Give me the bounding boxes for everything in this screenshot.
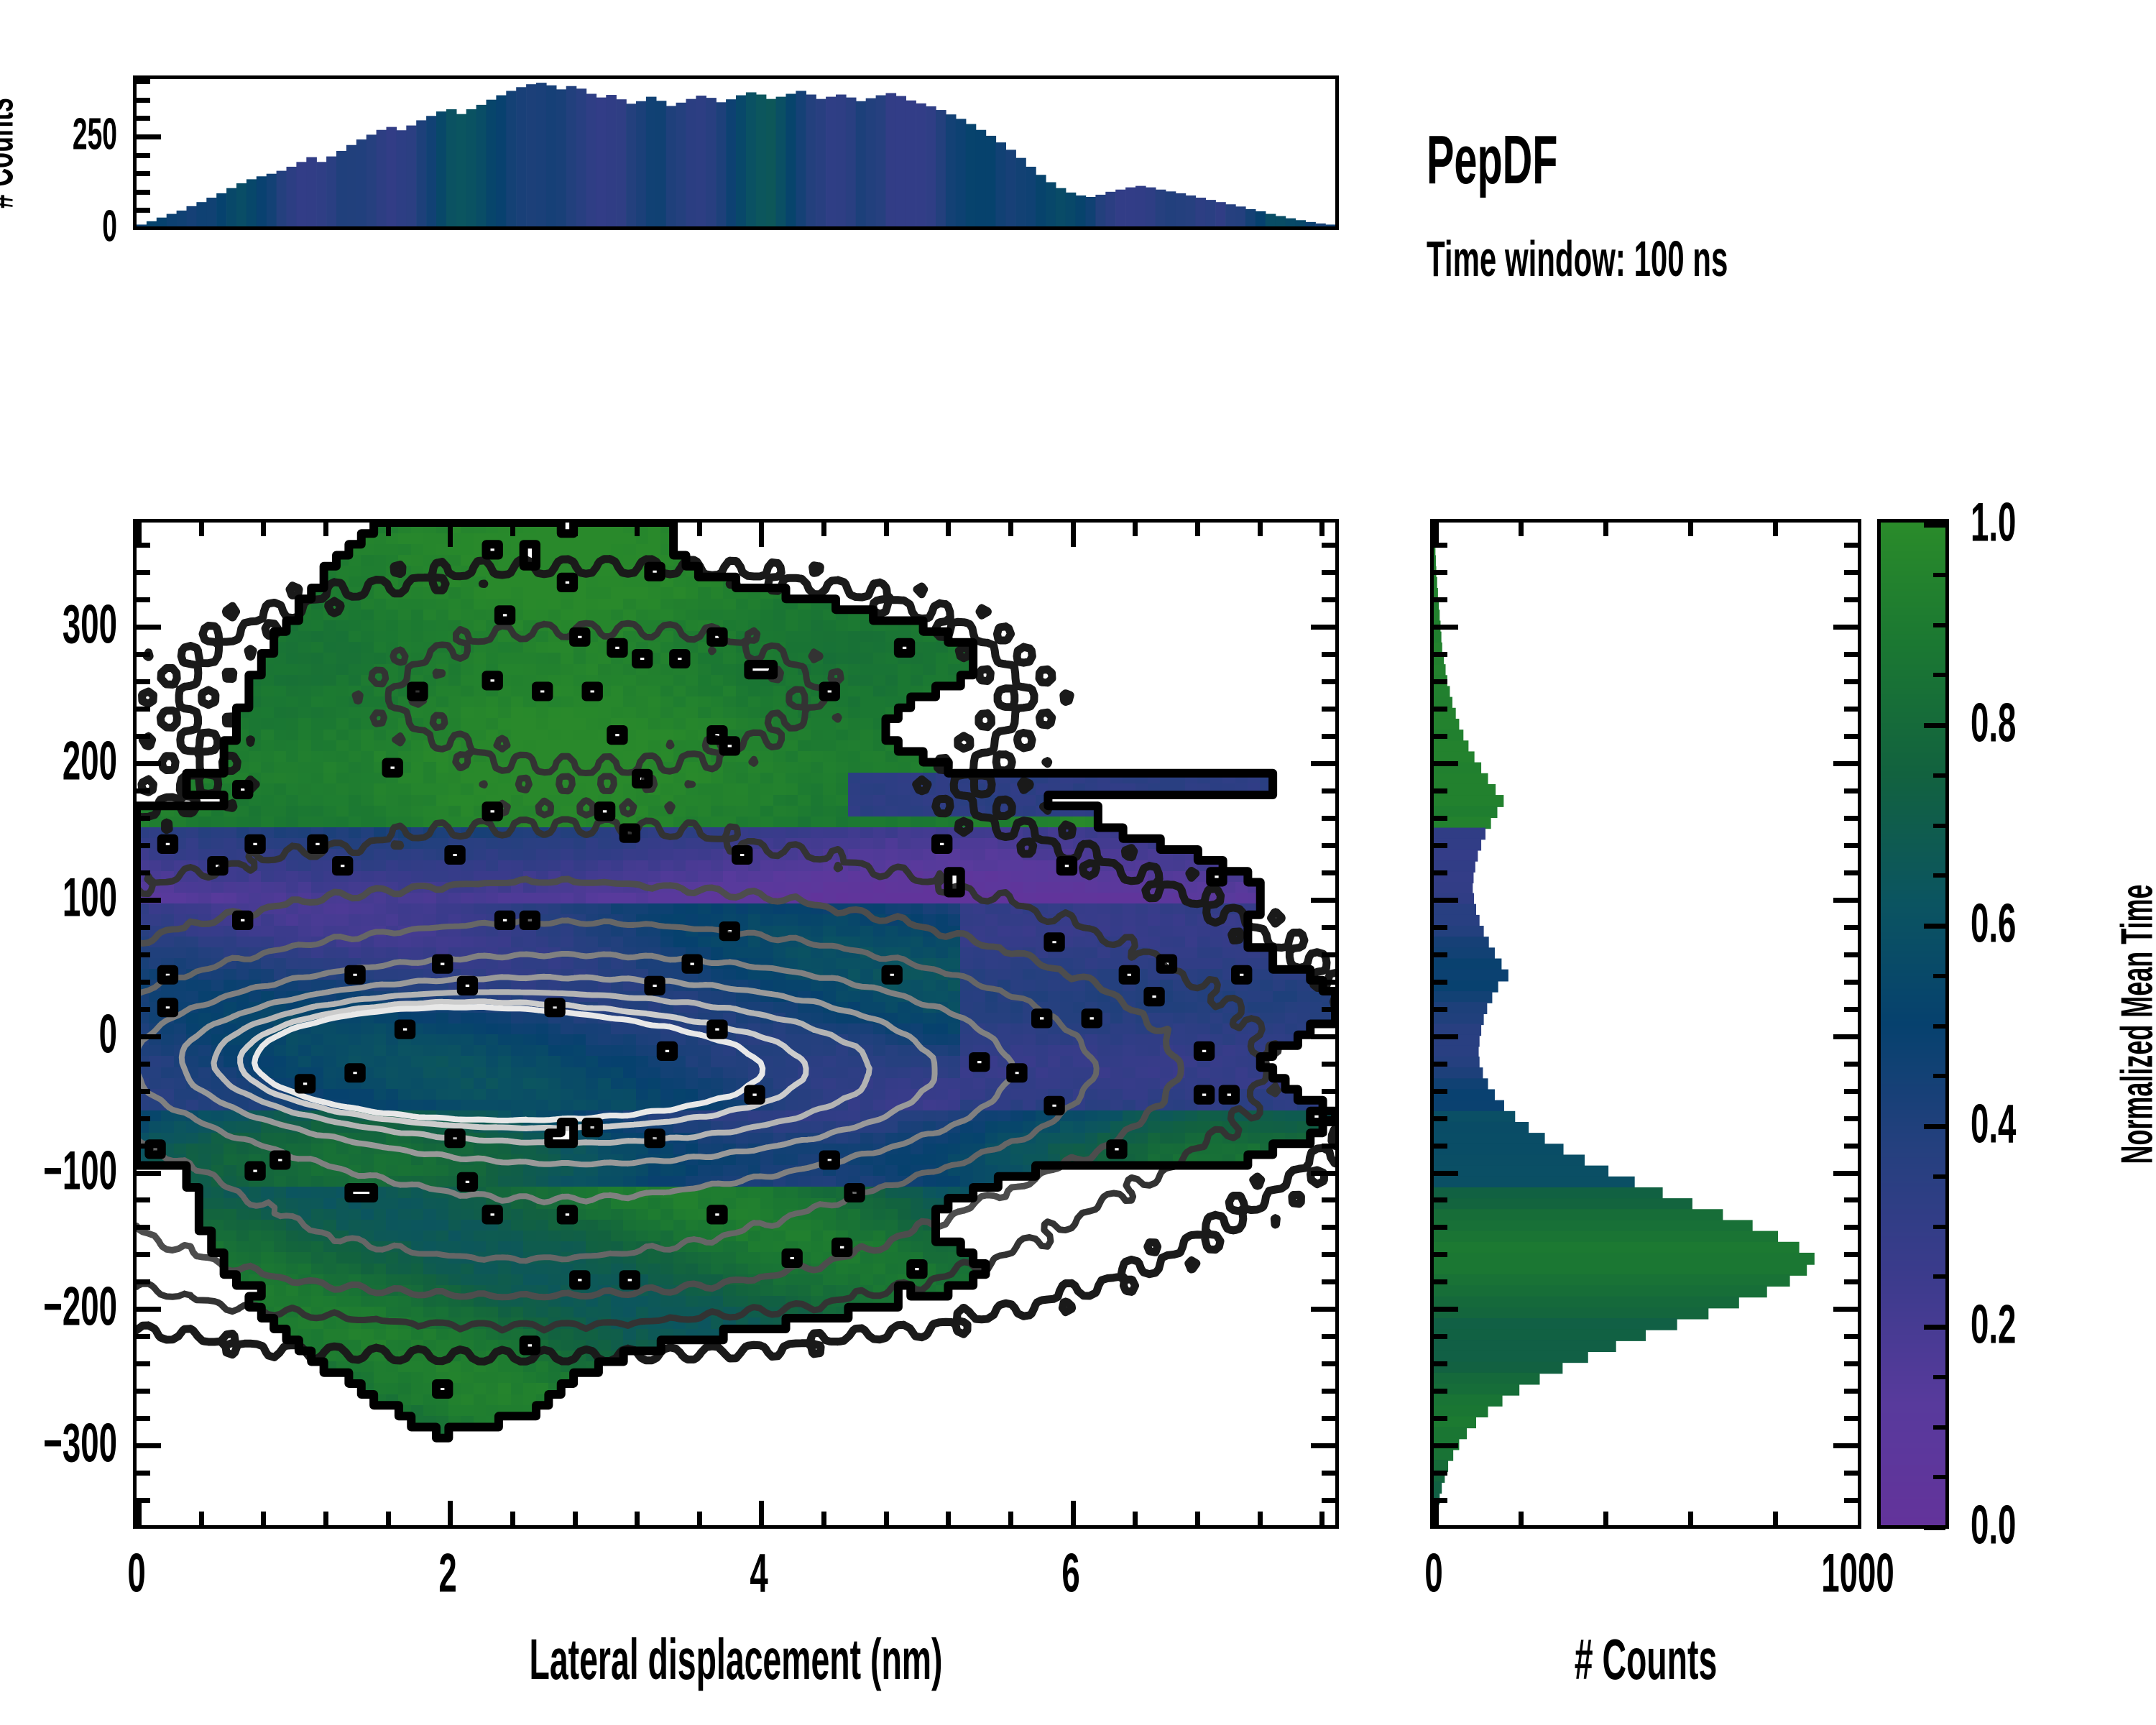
- axis-minor-tick: [1844, 1279, 1858, 1284]
- axis-minor-tick: [1195, 523, 1200, 536]
- axis-minor-tick: [1434, 652, 1447, 657]
- axis-minor-tick: [1844, 1416, 1858, 1421]
- axis-minor-tick: [1773, 1512, 1778, 1525]
- axis-minor-tick: [137, 1498, 150, 1503]
- axis-minor-tick: [137, 816, 150, 821]
- axis-minor-tick: [137, 79, 150, 84]
- axis-minor-tick: [1322, 1334, 1335, 1339]
- axis-minor-tick: [137, 171, 150, 176]
- axis-minor-tick: [1844, 597, 1858, 602]
- top-ytick-label: 250: [43, 109, 117, 160]
- axis-minor-tick: [137, 980, 150, 985]
- axis-minor-tick: [1434, 707, 1447, 712]
- colorbar-minor-tick: [1933, 1475, 1945, 1479]
- axis-minor-tick: [1603, 1512, 1608, 1525]
- axis-minor-tick: [1322, 788, 1335, 793]
- axis-tick: [1434, 1171, 1458, 1176]
- axis-minor-tick: [137, 116, 150, 121]
- axis-minor-tick: [1434, 1334, 1447, 1339]
- colorbar-minor-tick: [1933, 974, 1945, 978]
- axis-minor-tick: [1322, 1144, 1335, 1149]
- title-subtitle: Time window: 100 ns: [1427, 234, 1929, 284]
- right-marginal-histogram-panel: [1430, 519, 1861, 1529]
- axis-minor-tick: [1322, 952, 1335, 957]
- axis-minor-tick: [1434, 570, 1447, 575]
- axis-minor-tick: [1322, 1007, 1335, 1012]
- axis-minor-tick: [1434, 1498, 1447, 1503]
- axis-minor-tick: [884, 523, 889, 536]
- axis-minor-tick: [1434, 543, 1447, 548]
- axis-minor-tick: [1434, 1416, 1447, 1421]
- axis-minor-tick: [1434, 1144, 1447, 1149]
- top-marginal-histogram-panel: [133, 75, 1339, 230]
- axis-minor-tick: [697, 523, 702, 536]
- main-ytick-label: −200: [0, 1276, 117, 1338]
- axis-minor-tick: [1844, 1062, 1858, 1067]
- axis-minor-tick: [1322, 1116, 1335, 1121]
- axis-minor-tick: [1434, 597, 1447, 602]
- main-ytick-label: 300: [26, 594, 117, 656]
- axis-minor-tick: [137, 843, 150, 848]
- main-ytick-label: 200: [26, 730, 117, 793]
- axis-minor-tick: [1322, 679, 1335, 684]
- axis-minor-tick: [1434, 1116, 1447, 1121]
- axis-minor-tick: [137, 1334, 150, 1339]
- axis-tick: [1311, 1443, 1335, 1448]
- axis-minor-tick: [1322, 1389, 1335, 1394]
- axis-minor-tick: [1844, 1498, 1858, 1503]
- axis-tick: [1311, 625, 1335, 630]
- axis-minor-tick: [1844, 1525, 1858, 1529]
- main-ytick-label: 100: [26, 866, 117, 929]
- axis-minor-tick: [386, 1512, 391, 1525]
- axis-tick: [137, 226, 161, 230]
- axis-tick: [137, 1034, 161, 1039]
- axis-tick: [1833, 898, 1858, 903]
- axis-minor-tick: [137, 679, 150, 684]
- axis-minor-tick: [1322, 1225, 1335, 1230]
- axis-minor-tick: [137, 1116, 150, 1121]
- axis-minor-tick: [1434, 1279, 1447, 1284]
- axis-minor-tick: [1844, 570, 1858, 575]
- axis-tick: [1434, 1443, 1458, 1448]
- axis-minor-tick: [1844, 870, 1858, 875]
- axis-tick: [137, 1501, 142, 1525]
- axis-minor-tick: [1434, 1197, 1447, 1202]
- axis-tick: [1311, 1307, 1335, 1312]
- colorbar-tick: [1924, 1325, 1945, 1330]
- axis-minor-tick: [323, 523, 328, 536]
- axis-minor-tick: [1322, 1498, 1335, 1503]
- right-histogram-xlabel: # Counts: [1523, 1627, 1769, 1693]
- axis-minor-tick: [1322, 816, 1335, 821]
- axis-minor-tick: [261, 523, 266, 536]
- axis-minor-tick: [1322, 1525, 1335, 1529]
- axis-minor-tick: [137, 1525, 150, 1529]
- axis-tick: [137, 134, 161, 139]
- axis-minor-tick: [1322, 1089, 1335, 1094]
- axis-minor-tick: [1319, 1512, 1325, 1525]
- axis-minor-tick: [137, 734, 150, 739]
- axis-minor-tick: [137, 543, 150, 548]
- axis-tick: [137, 1171, 161, 1176]
- axis-tick: [1311, 898, 1335, 903]
- axis-minor-tick: [137, 190, 150, 195]
- axis-minor-tick: [1844, 1089, 1858, 1094]
- axis-minor-tick: [1322, 1471, 1335, 1476]
- axis-tick: [1434, 1034, 1458, 1039]
- page-title: PepDF: [1427, 126, 1929, 195]
- colorbar-minor-tick: [1933, 873, 1945, 878]
- axis-minor-tick: [1434, 1361, 1447, 1366]
- colorbar-minor-tick: [1933, 1425, 1945, 1430]
- axis-minor-tick: [137, 98, 150, 103]
- axis-tick: [137, 1443, 161, 1448]
- axis-minor-tick: [137, 1416, 150, 1421]
- axis-tick: [1311, 1034, 1335, 1039]
- axis-tick: [1833, 1307, 1858, 1312]
- axis-minor-tick: [1773, 523, 1778, 536]
- colorbar-tick-label: 0.4: [1971, 1093, 2047, 1156]
- axis-minor-tick: [1844, 816, 1858, 821]
- colorbar-tick-label: 0.6: [1971, 893, 2047, 955]
- colorbar: [1877, 519, 1949, 1529]
- axis-minor-tick: [137, 153, 150, 158]
- colorbar-tick-label: 1.0: [1971, 492, 2047, 554]
- axis-minor-tick: [1844, 1471, 1858, 1476]
- axis-minor-tick: [1322, 1062, 1335, 1067]
- top-histogram-ylabel: # Counts: [0, 57, 24, 248]
- main-ytick-label: 0: [87, 1003, 117, 1065]
- axis-minor-tick: [137, 570, 150, 575]
- axis-minor-tick: [1844, 843, 1858, 848]
- axis-minor-tick: [137, 597, 150, 602]
- axis-tick: [1833, 1034, 1858, 1039]
- main-xtick-label: 0: [121, 1542, 152, 1605]
- axis-minor-tick: [1195, 1512, 1200, 1525]
- axis-minor-tick: [1603, 523, 1608, 536]
- axis-minor-tick: [1844, 1252, 1858, 1257]
- axis-tick: [1434, 1307, 1458, 1312]
- axis-minor-tick: [1434, 1062, 1447, 1067]
- axis-tick: [137, 898, 161, 903]
- right-xtick-label: 0: [1419, 1542, 1449, 1605]
- axis-minor-tick: [1434, 788, 1447, 793]
- axis-minor-tick: [1008, 523, 1013, 536]
- axis-minor-tick: [1319, 523, 1325, 536]
- axis-minor-tick: [1434, 1225, 1447, 1230]
- axis-tick: [1858, 1501, 1861, 1525]
- colorbar-minor-tick: [1933, 824, 1945, 828]
- axis-minor-tick: [137, 1197, 150, 1202]
- axis-tick: [137, 625, 161, 630]
- axis-minor-tick: [1434, 870, 1447, 875]
- axis-minor-tick: [137, 707, 150, 712]
- axis-minor-tick: [1844, 788, 1858, 793]
- axis-minor-tick: [137, 1389, 150, 1394]
- colorbar-minor-tick: [1933, 1225, 1945, 1229]
- axis-minor-tick: [510, 1512, 515, 1525]
- colorbar-tick: [1924, 523, 1945, 528]
- axis-minor-tick: [1322, 980, 1335, 985]
- axis-tick: [1434, 1501, 1439, 1525]
- axis-minor-tick: [1322, 570, 1335, 575]
- axis-minor-tick: [1322, 543, 1335, 548]
- axis-minor-tick: [199, 1512, 204, 1525]
- axis-minor-tick: [137, 1089, 150, 1094]
- axis-minor-tick: [137, 1279, 150, 1284]
- right-histogram-canvas: [1434, 523, 1858, 1525]
- main-xtick-label: 2: [433, 1542, 463, 1605]
- axis-minor-tick: [1844, 1144, 1858, 1149]
- axis-minor-tick: [1434, 1089, 1447, 1094]
- axis-minor-tick: [1844, 543, 1858, 548]
- colorbar-tick: [1924, 924, 1945, 929]
- axis-minor-tick: [1322, 652, 1335, 657]
- axis-tick: [137, 761, 161, 766]
- axis-minor-tick: [1322, 734, 1335, 739]
- axis-tick: [1833, 625, 1858, 630]
- axis-tick: [1833, 1171, 1858, 1176]
- axis-minor-tick: [137, 1252, 150, 1257]
- axis-minor-tick: [1844, 952, 1858, 957]
- axis-minor-tick: [1322, 1279, 1335, 1284]
- axis-tick: [448, 1501, 453, 1525]
- axis-tick: [759, 523, 764, 547]
- main-heatmap-panel: [133, 519, 1339, 1529]
- density-contour-canvas: [137, 523, 1335, 1525]
- axis-minor-tick: [1688, 1512, 1693, 1525]
- axis-minor-tick: [1322, 597, 1335, 602]
- axis-tick: [1833, 1443, 1858, 1448]
- axis-tick: [1434, 625, 1458, 630]
- colorbar-tick: [1924, 1124, 1945, 1129]
- right-xtick-label: 1000: [1797, 1542, 1918, 1605]
- colorbar-minor-tick: [1933, 673, 1945, 677]
- colorbar-minor-tick: [1933, 1074, 1945, 1078]
- axis-minor-tick: [1434, 816, 1447, 821]
- axis-tick: [759, 1501, 764, 1525]
- colorbar-label: Normalized Mean Time: [2112, 783, 2156, 1265]
- axis-minor-tick: [1844, 1334, 1858, 1339]
- axis-minor-tick: [137, 870, 150, 875]
- axis-tick: [1833, 761, 1858, 766]
- axis-minor-tick: [946, 1512, 951, 1525]
- axis-minor-tick: [510, 523, 515, 536]
- axis-minor-tick: [1434, 734, 1447, 739]
- axis-minor-tick: [1844, 1389, 1858, 1394]
- axis-minor-tick: [137, 925, 150, 930]
- colorbar-minor-tick: [1933, 1024, 1945, 1029]
- axis-minor-tick: [137, 1361, 150, 1366]
- colorbar-minor-tick: [1933, 1274, 1945, 1279]
- axis-minor-tick: [1322, 1252, 1335, 1257]
- axis-minor-tick: [323, 1512, 328, 1525]
- axis-minor-tick: [1434, 952, 1447, 957]
- axis-minor-tick: [1519, 523, 1524, 536]
- axis-minor-tick: [1844, 734, 1858, 739]
- axis-tick: [1311, 1171, 1335, 1176]
- axis-minor-tick: [1258, 523, 1263, 536]
- colorbar-tick-label: 0.2: [1971, 1294, 2047, 1356]
- axis-minor-tick: [1434, 843, 1447, 848]
- axis-minor-tick: [884, 1512, 889, 1525]
- axis-tick: [1071, 523, 1076, 547]
- axis-tick: [1071, 1501, 1076, 1525]
- axis-minor-tick: [697, 1512, 702, 1525]
- axis-minor-tick: [1133, 523, 1138, 536]
- axis-minor-tick: [1844, 707, 1858, 712]
- axis-minor-tick: [1844, 1007, 1858, 1012]
- colorbar-tick-label: 0.0: [1971, 1494, 2047, 1557]
- axis-minor-tick: [1008, 1512, 1013, 1525]
- axis-minor-tick: [1844, 925, 1858, 930]
- axis-minor-tick: [199, 523, 204, 536]
- axis-minor-tick: [1844, 1116, 1858, 1121]
- axis-minor-tick: [137, 652, 150, 657]
- axis-tick: [1858, 523, 1861, 547]
- axis-minor-tick: [1434, 1007, 1447, 1012]
- colorbar-minor-tick: [1933, 623, 1945, 627]
- axis-minor-tick: [137, 208, 150, 213]
- axis-minor-tick: [137, 1144, 150, 1149]
- axis-minor-tick: [137, 1007, 150, 1012]
- axis-minor-tick: [1322, 1416, 1335, 1421]
- colorbar-minor-tick: [1933, 773, 1945, 778]
- axis-minor-tick: [1434, 1525, 1447, 1529]
- axis-minor-tick: [1322, 1361, 1335, 1366]
- axis-minor-tick: [1322, 1197, 1335, 1202]
- axis-minor-tick: [635, 1512, 640, 1525]
- axis-minor-tick: [386, 523, 391, 536]
- axis-minor-tick: [1844, 679, 1858, 684]
- axis-minor-tick: [1844, 652, 1858, 657]
- axis-minor-tick: [1844, 1225, 1858, 1230]
- axis-minor-tick: [1844, 980, 1858, 985]
- top-ytick-label: 0: [93, 201, 117, 252]
- axis-minor-tick: [137, 788, 150, 793]
- main-ytick-label: −300: [0, 1412, 117, 1475]
- axis-minor-tick: [1322, 843, 1335, 848]
- axis-tick: [1434, 761, 1458, 766]
- colorbar-tick: [1924, 1525, 1945, 1530]
- main-xtick-label: 6: [1056, 1542, 1086, 1605]
- axis-minor-tick: [137, 1225, 150, 1230]
- axis-tick: [1311, 761, 1335, 766]
- top-histogram-canvas: [137, 79, 1335, 226]
- axis-minor-tick: [1434, 1389, 1447, 1394]
- axis-minor-tick: [137, 952, 150, 957]
- axis-minor-tick: [1322, 870, 1335, 875]
- colorbar-minor-tick: [1933, 573, 1945, 577]
- axis-minor-tick: [1322, 925, 1335, 930]
- axis-minor-tick: [635, 523, 640, 536]
- axis-minor-tick: [1322, 707, 1335, 712]
- colorbar-tick: [1924, 723, 1945, 728]
- axis-minor-tick: [1434, 1471, 1447, 1476]
- axis-minor-tick: [946, 523, 951, 536]
- axis-minor-tick: [1434, 679, 1447, 684]
- axis-minor-tick: [821, 523, 826, 536]
- axis-tick: [1434, 898, 1458, 903]
- axis-minor-tick: [1133, 1512, 1138, 1525]
- main-ytick-label: −100: [0, 1139, 117, 1202]
- axis-minor-tick: [1688, 523, 1693, 536]
- axis-minor-tick: [1519, 1512, 1524, 1525]
- colorbar-minor-tick: [1933, 1174, 1945, 1179]
- colorbar-minor-tick: [1933, 1375, 1945, 1379]
- axis-minor-tick: [573, 1512, 578, 1525]
- axis-minor-tick: [137, 1062, 150, 1067]
- axis-minor-tick: [573, 523, 578, 536]
- title-block: PepDF Time window: 100 ns: [1427, 126, 1929, 284]
- axis-minor-tick: [1434, 980, 1447, 985]
- axis-minor-tick: [821, 1512, 826, 1525]
- axis-minor-tick: [261, 1512, 266, 1525]
- main-xaxis-label: Lateral displacement (nm): [379, 1627, 1092, 1693]
- axis-minor-tick: [1258, 1512, 1263, 1525]
- axis-minor-tick: [1844, 1361, 1858, 1366]
- axis-minor-tick: [1844, 1197, 1858, 1202]
- main-xtick-label: 4: [744, 1542, 774, 1605]
- axis-tick: [448, 523, 453, 547]
- axis-minor-tick: [1434, 1252, 1447, 1257]
- axis-minor-tick: [1434, 925, 1447, 930]
- colorbar-tick-label: 0.8: [1971, 692, 2047, 755]
- axis-minor-tick: [137, 1471, 150, 1476]
- axis-tick: [137, 1307, 161, 1312]
